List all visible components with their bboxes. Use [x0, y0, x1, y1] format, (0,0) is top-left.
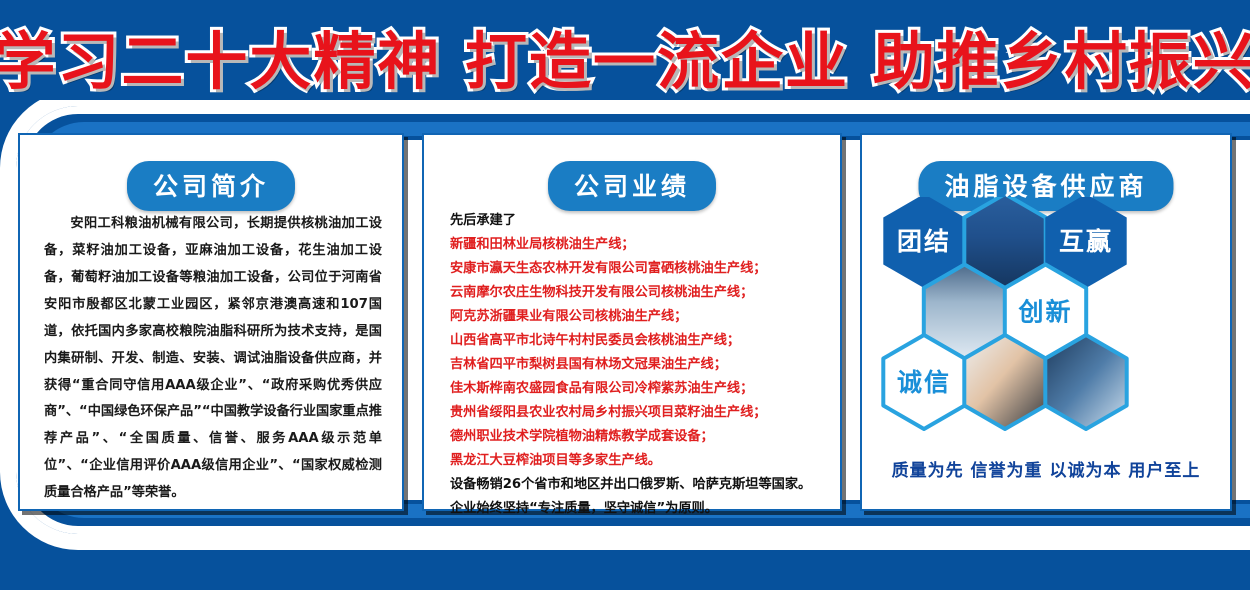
- panel-profile-title: 公司简介: [127, 161, 295, 211]
- record-item: 德州职业技术学院植物油精炼教学成套设备；: [450, 425, 824, 449]
- record-item: 吉林省四平市梨树县国有林场文冠果油生产线；: [450, 353, 824, 377]
- record-item: 黑龙江大豆榨油项目等多家生产线。: [450, 449, 824, 473]
- record-item: 山西省高平市北诗午村村民委员会核桃油生产线；: [450, 329, 824, 353]
- panel-company-profile: 公司简介 安阳工科粮油机械有限公司，长期提供核桃油加工设备，菜籽油加工设备，亚麻…: [18, 133, 404, 511]
- page-title: 学习二十大精神 打造一流企业 助推乡村振兴: [0, 11, 1250, 101]
- hex-chuangxin-label: 创新: [1017, 298, 1072, 327]
- poster-root: 学习二十大精神 打造一流企业 助推乡村振兴 公司简介 安阳工科粮油机械有限公司，…: [0, 0, 1250, 590]
- records-footer: 设备畅销26个省市和地区并出口俄罗斯、哈萨克斯坦等国家。企业始终坚持“专注质量，…: [450, 473, 824, 521]
- records-list: 先后承建了 新疆和田林业局核桃油生产线；安康市瀛天生态农林开发有限公司富硒核桃油…: [450, 209, 824, 521]
- record-footer-line: 企业始终坚持“专注质量，坚守诚信”为原则。: [450, 497, 824, 521]
- record-item: 安康市瀛天生态农林开发有限公司富硒核桃油生产线；: [450, 257, 824, 281]
- record-item: 云南摩尔农庄生物科技开发有限公司核桃油生产线；: [450, 281, 824, 305]
- record-item: 新疆和田林业局核桃油生产线；: [450, 233, 824, 257]
- panel-records-title: 公司业绩: [548, 161, 716, 211]
- panels-stage: 公司简介 安阳工科粮油机械有限公司，长期提供核桃油加工设备，菜籽油加工设备，亚麻…: [18, 133, 1232, 533]
- company-profile-text: 安阳工科粮油机械有限公司，长期提供核桃油加工设备，菜籽油加工设备，亚麻油加工设备…: [44, 211, 382, 507]
- panel-supplier: 油脂设备供应商: [860, 133, 1232, 511]
- record-item: 佳木斯桦南农盛园食品有限公司冷榨紫苏油生产线；: [450, 377, 824, 401]
- record-item: 贵州省绥阳县农业农村局乡村振兴项目菜籽油生产线；: [450, 401, 824, 425]
- hex-chengxin-label: 诚信: [897, 368, 951, 397]
- records-intro: 先后承建了: [450, 209, 824, 233]
- panel-company-records: 公司业绩 先后承建了 新疆和田林业局核桃油生产线；安康市瀛天生态农林开发有限公司…: [422, 133, 842, 511]
- hexagon-graphic: 团结互赢创新诚信: [862, 197, 1234, 447]
- hex-tuanjie-label: 团结: [897, 227, 951, 256]
- record-footer-line: 设备畅销26个省市和地区并出口俄罗斯、哈萨克斯坦等国家。: [450, 473, 824, 497]
- hexagon-cluster: 团结互赢创新诚信: [862, 197, 1234, 447]
- hex-huying-label: 互赢: [1059, 227, 1113, 256]
- supplier-slogan: 质量为先 信誉为重 以诚为本 用户至上: [862, 456, 1230, 481]
- record-item: 阿克苏浙疆果业有限公司核桃油生产线；: [450, 305, 824, 329]
- header-banner: 学习二十大精神 打造一流企业 助推乡村振兴: [0, 0, 1250, 112]
- records-items: 新疆和田林业局核桃油生产线；安康市瀛天生态农林开发有限公司富硒核桃油生产线；云南…: [450, 233, 824, 473]
